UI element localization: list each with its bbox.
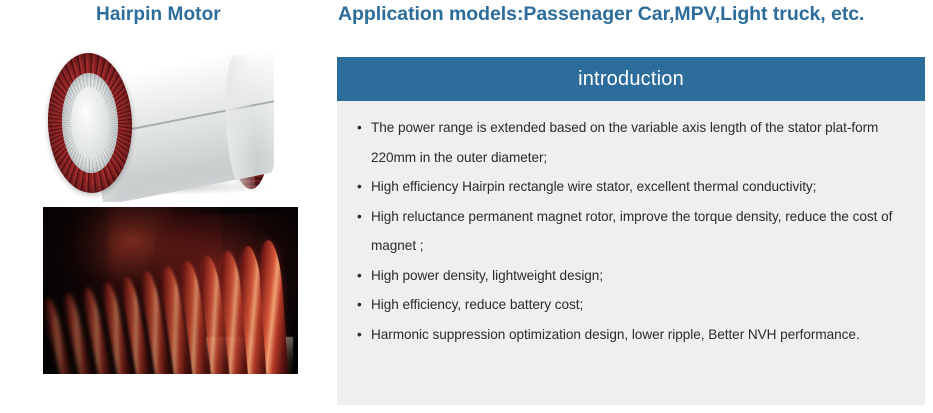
introduction-bullet-text: High reluctance permanent magnet rotor, …: [371, 209, 892, 254]
hairpin-closeup-illustration: [43, 207, 298, 374]
introduction-bullet-item: •High efficiency, reduce battery cost;: [355, 290, 915, 320]
bullet-dot-icon: •: [357, 320, 362, 350]
introduction-bullet-text: The power range is extended based on the…: [371, 120, 878, 165]
bullet-dot-icon: •: [357, 172, 362, 202]
introduction-header-label: introduction: [578, 68, 684, 91]
bullet-dot-icon: •: [357, 113, 362, 143]
introduction-bullet-text: Harmonic suppression optimization design…: [371, 327, 860, 342]
page-title-application-models: Application models:Passenager Car,MPV,Li…: [338, 3, 864, 26]
introduction-bullet-text: High efficiency Hairpin rectangle wire s…: [371, 179, 816, 194]
bullet-dot-icon: •: [357, 261, 362, 291]
introduction-bullet-item: •Harmonic suppression optimization desig…: [355, 320, 915, 350]
page-title-hairpin-motor: Hairpin Motor: [96, 4, 221, 26]
introduction-bullet-text: High power density, lightweight design;: [371, 268, 603, 283]
introduction-bullet-item: •The power range is extended based on th…: [355, 113, 915, 172]
stator-illustration: [30, 47, 320, 202]
introduction-bullet-item: •High efficiency Hairpin rectangle wire …: [355, 172, 915, 202]
bullet-dot-icon: •: [357, 290, 362, 320]
introduction-bullet-item: •High power density, lightweight design;: [355, 261, 915, 291]
hairpin-stator-photo: [30, 47, 320, 202]
bullet-dot-icon: •: [357, 202, 362, 232]
introduction-bullet-text: High efficiency, reduce battery cost;: [371, 297, 583, 312]
introduction-bullet-list: •The power range is extended based on th…: [355, 113, 915, 349]
introduction-bullet-item: •High reluctance permanent magnet rotor,…: [355, 202, 915, 261]
hairpin-winding-closeup-photo: [43, 207, 298, 374]
introduction-header: introduction: [337, 57, 925, 101]
